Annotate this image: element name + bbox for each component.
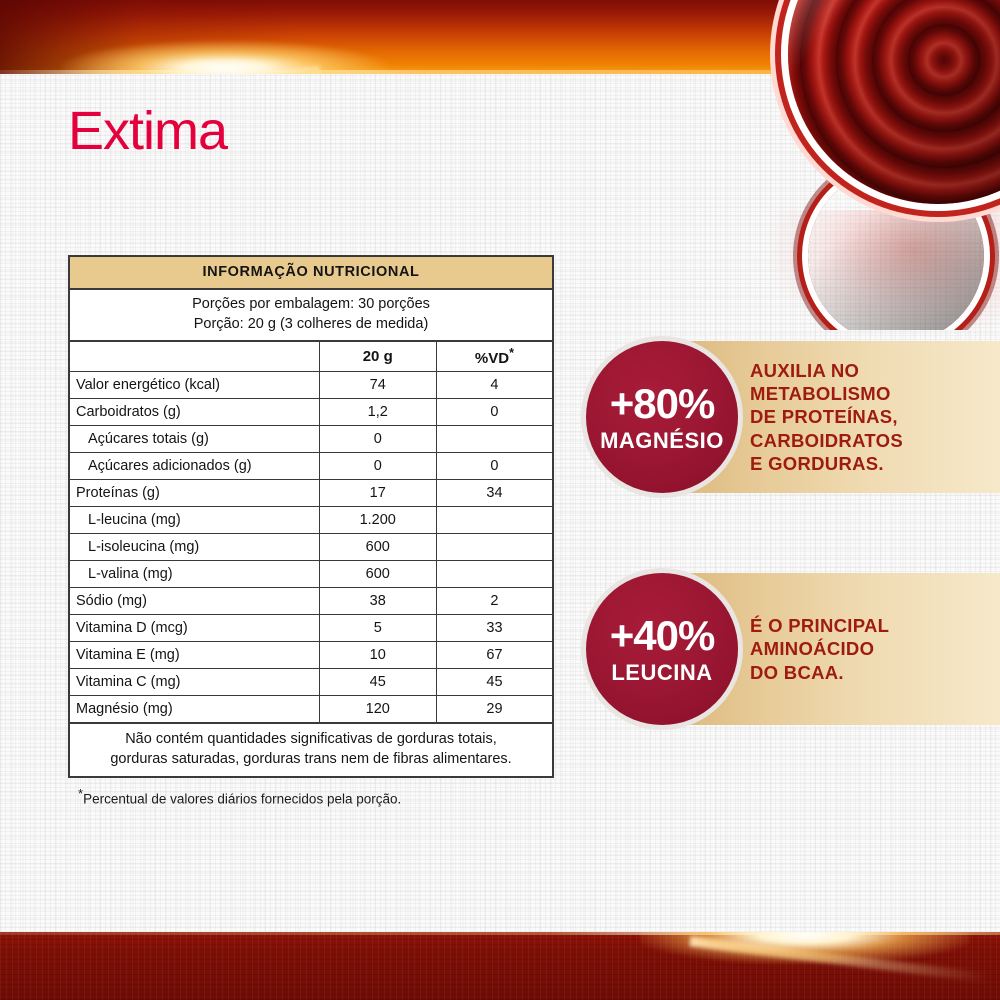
table-row: Açúcares adicionados (g)00 <box>69 453 553 480</box>
table-row: Proteínas (g)1734 <box>69 480 553 507</box>
row-amount: 17 <box>319 480 436 507</box>
row-label: Açúcares adicionados (g) <box>69 453 319 480</box>
row-dv <box>436 507 553 534</box>
bottom-banner-flare <box>640 932 970 964</box>
nutrition-facts-panel: INFORMAÇÃO NUTRICIONAL Porções por embal… <box>68 255 554 778</box>
badge-percent: +40% <box>610 615 715 657</box>
column-header-dv: %VD* <box>436 341 553 372</box>
table-serving-row: Porções por embalagem: 30 porções Porção… <box>69 289 553 341</box>
top-banner-flare <box>60 40 390 74</box>
row-dv <box>436 426 553 453</box>
table-header-row: 20 g %VD* <box>69 341 553 372</box>
row-amount: 74 <box>319 372 436 399</box>
dv-asterisk: * <box>509 346 514 360</box>
row-amount: 1,2 <box>319 399 436 426</box>
row-label: Magnésio (mg) <box>69 696 319 724</box>
dv-label: %VD <box>475 350 509 367</box>
table-row: Valor energético (kcal)744 <box>69 372 553 399</box>
row-amount: 600 <box>319 534 436 561</box>
serving-info: Porções por embalagem: 30 porções Porção… <box>69 289 553 341</box>
column-header-name <box>69 341 319 372</box>
row-amount: 10 <box>319 642 436 669</box>
highlight-text-leucina: É O PRINCIPAL AMINOÁCIDO DO BCAA. <box>750 614 889 684</box>
servings-per-package: Porções por embalagem: 30 porções <box>70 295 552 315</box>
column-header-amount: 20 g <box>319 341 436 372</box>
row-amount: 1.200 <box>319 507 436 534</box>
row-label: L-isoleucina (mg) <box>69 534 319 561</box>
wine-glass-bowl-gloss <box>788 0 1000 204</box>
row-amount: 0 <box>319 426 436 453</box>
highlight-line: AUXILIA NO <box>750 359 903 382</box>
row-amount: 5 <box>319 615 436 642</box>
table-note-row: Não contém quantidades significativas de… <box>69 723 553 777</box>
brand-logo: Extima <box>68 104 227 158</box>
row-dv: 2 <box>436 588 553 615</box>
highlight-line: E GORDURAS. <box>750 452 903 475</box>
row-label: L-leucina (mg) <box>69 507 319 534</box>
row-dv: 67 <box>436 642 553 669</box>
row-dv: 34 <box>436 480 553 507</box>
row-amount: 45 <box>319 669 436 696</box>
table-title-row: INFORMAÇÃO NUTRICIONAL <box>69 256 553 289</box>
highlight-line: DE PROTEÍNAS, <box>750 405 903 428</box>
row-label: Carboidratos (g) <box>69 399 319 426</box>
wine-glass-graphic <box>770 0 1000 330</box>
highlight-line: É O PRINCIPAL <box>750 614 889 637</box>
table-row: L-isoleucina (mg)600 <box>69 534 553 561</box>
badge-magnesio: +80% MAGNÉSIO <box>586 341 738 493</box>
row-dv <box>436 561 553 588</box>
table-row: Açúcares totais (g)0 <box>69 426 553 453</box>
table-row: L-valina (mg)600 <box>69 561 553 588</box>
table-row: Magnésio (mg)12029 <box>69 696 553 724</box>
highlight-line: CARBOIDRATOS <box>750 429 903 452</box>
bottom-banner <box>0 932 1000 1000</box>
highlight-text-magnesio: AUXILIA NO METABOLISMO DE PROTEÍNAS, CAR… <box>750 359 903 475</box>
row-label: L-valina (mg) <box>69 561 319 588</box>
row-dv: 0 <box>436 453 553 480</box>
highlight-line: METABOLISMO <box>750 382 903 405</box>
row-amount: 120 <box>319 696 436 724</box>
table-row: Vitamina E (mg)1067 <box>69 642 553 669</box>
badge-leucina: +40% LEUCINA <box>586 573 738 725</box>
nutrition-note: Não contém quantidades significativas de… <box>69 723 553 777</box>
row-label: Vitamina E (mg) <box>69 642 319 669</box>
row-amount: 0 <box>319 453 436 480</box>
badge-label: MAGNÉSIO <box>600 430 724 452</box>
badge-percent: +80% <box>610 383 715 425</box>
highlight-line: DO BCAA. <box>750 661 889 684</box>
row-label: Vitamina C (mg) <box>69 669 319 696</box>
table-row: L-leucina (mg)1.200 <box>69 507 553 534</box>
nutrition-title: INFORMAÇÃO NUTRICIONAL <box>69 256 553 289</box>
row-label: Valor energético (kcal) <box>69 372 319 399</box>
table-row: Vitamina D (mcg)533 <box>69 615 553 642</box>
row-amount: 38 <box>319 588 436 615</box>
serving-size: Porção: 20 g (3 colheres de medida) <box>70 315 552 335</box>
row-label: Proteínas (g) <box>69 480 319 507</box>
footnote-text: Percentual de valores diários fornecidos… <box>83 792 401 807</box>
row-amount: 600 <box>319 561 436 588</box>
row-dv <box>436 534 553 561</box>
row-label: Vitamina D (mcg) <box>69 615 319 642</box>
badge-label: LEUCINA <box>611 662 712 684</box>
note-line-2: gorduras saturadas, gorduras trans nem d… <box>78 749 544 769</box>
row-label: Açúcares totais (g) <box>69 426 319 453</box>
row-dv: 0 <box>436 399 553 426</box>
table-row: Carboidratos (g)1,20 <box>69 399 553 426</box>
nutrition-footnote: *Percentual de valores diários fornecido… <box>78 786 401 807</box>
row-dv: 29 <box>436 696 553 724</box>
note-line-1: Não contém quantidades significativas de… <box>78 729 544 749</box>
row-dv: 33 <box>436 615 553 642</box>
row-label: Sódio (mg) <box>69 588 319 615</box>
table-row: Sódio (mg)382 <box>69 588 553 615</box>
highlight-line: AMINOÁCIDO <box>750 637 889 660</box>
row-dv: 4 <box>436 372 553 399</box>
table-row: Vitamina C (mg)4545 <box>69 669 553 696</box>
nutrition-table: INFORMAÇÃO NUTRICIONAL Porções por embal… <box>68 255 554 778</box>
row-dv: 45 <box>436 669 553 696</box>
